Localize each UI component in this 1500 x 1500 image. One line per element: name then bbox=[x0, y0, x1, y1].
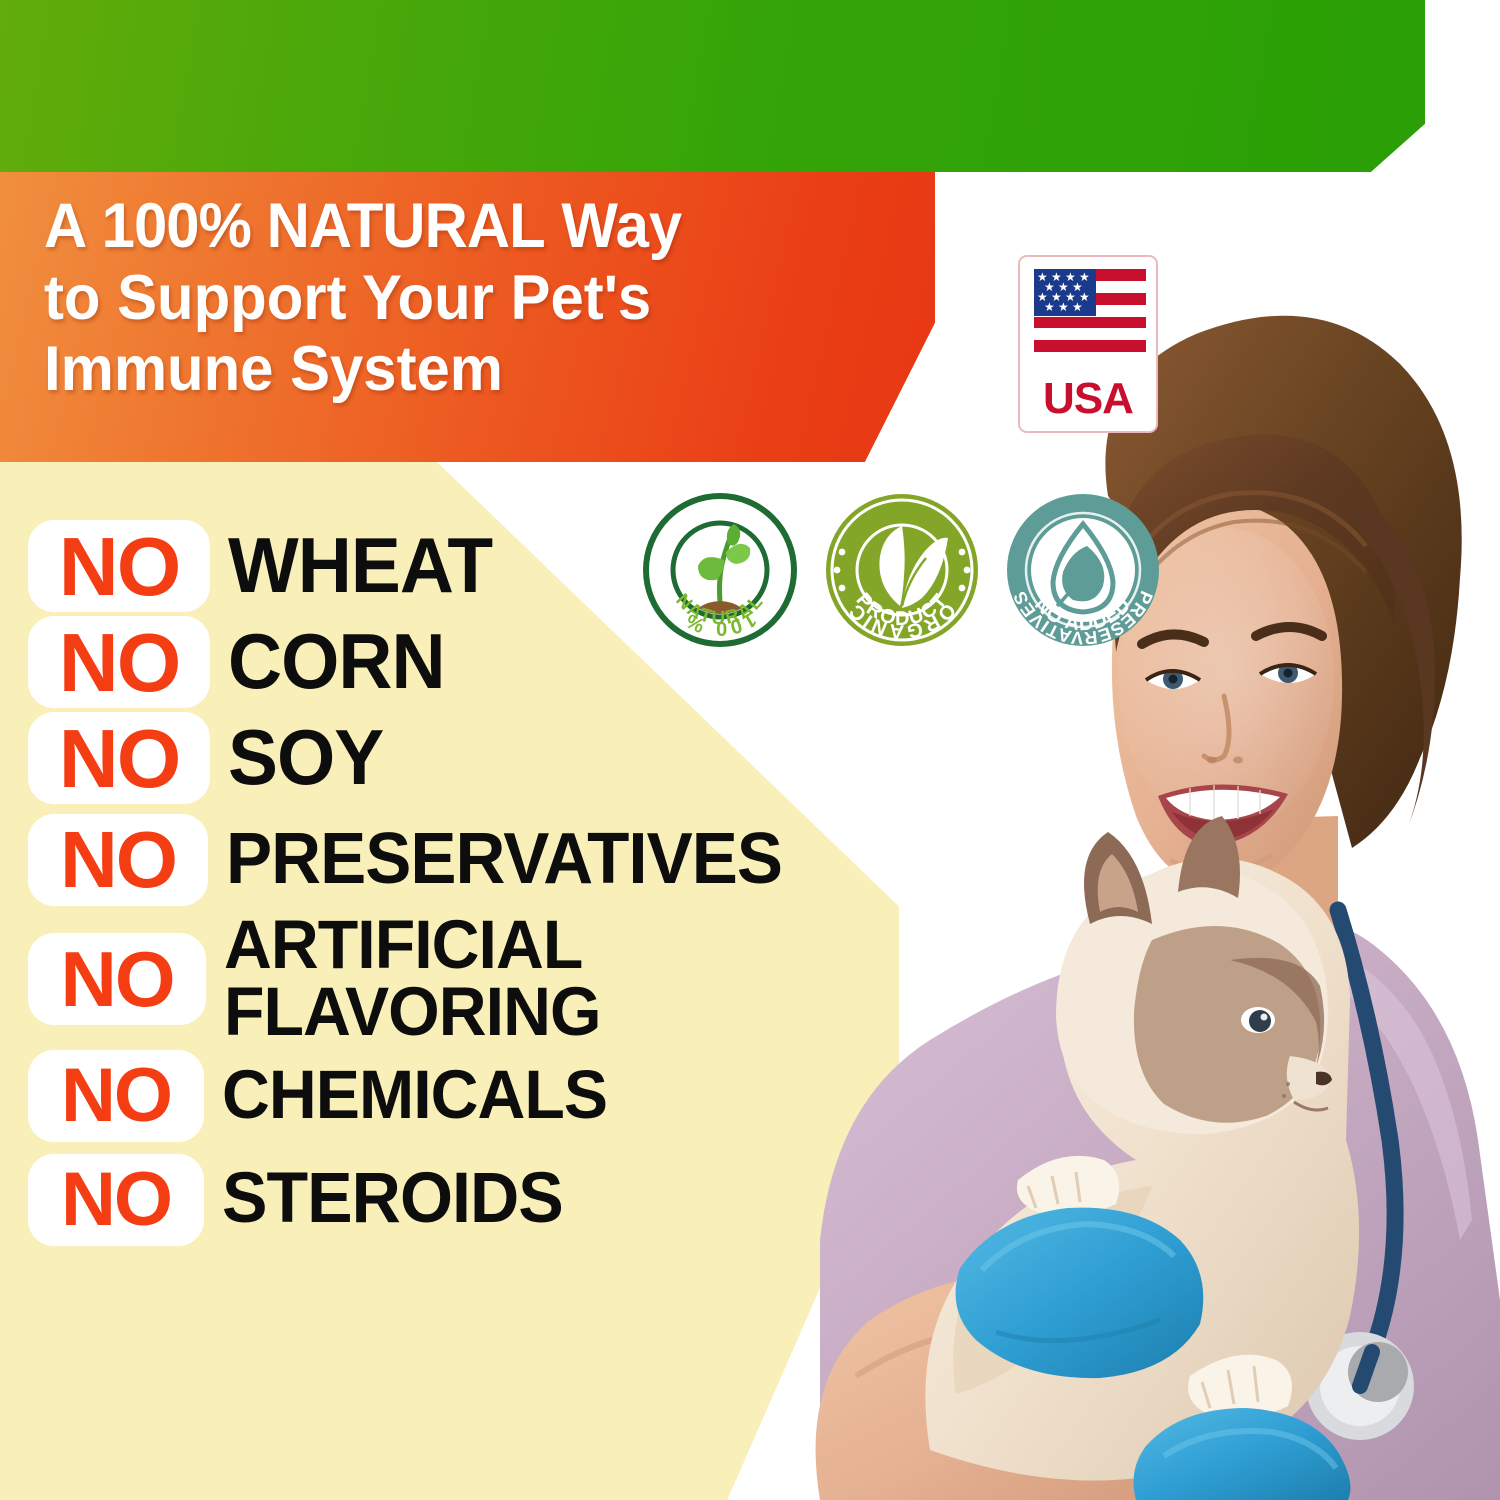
list-item: NO STEROIDS bbox=[28, 1154, 928, 1246]
usa-badge-label: USA bbox=[1020, 374, 1156, 424]
subhead-line-1: A 100% NATURAL Way bbox=[44, 196, 880, 258]
recommended-by-vets-banner bbox=[0, 0, 1425, 172]
no-item-label: ARTIFICIAL FLAVORING bbox=[224, 912, 601, 1046]
subhead-text-block: A 100% NATURAL Way to Support Your Pet's… bbox=[44, 196, 924, 411]
no-chip: NO bbox=[28, 616, 210, 708]
list-item: NO ARTIFICIAL FLAVORING bbox=[28, 912, 928, 1046]
no-item-label: WHEAT bbox=[228, 528, 492, 604]
no-chip: NO bbox=[28, 1154, 204, 1246]
no-chip: NO bbox=[28, 933, 206, 1025]
subhead-line-1-suffix: Way bbox=[545, 191, 682, 261]
list-item: NO CORN bbox=[28, 616, 928, 708]
no-item-label: SOY bbox=[228, 720, 383, 796]
no-item-label: CORN bbox=[228, 624, 445, 700]
subhead-line-1-prefix: A bbox=[44, 191, 102, 261]
subhead-line-2: to Support Your Pet's bbox=[44, 268, 880, 330]
subhead-line-3: Immune System bbox=[44, 339, 880, 401]
list-item: NO CHEMICALS bbox=[28, 1050, 928, 1142]
usa-flag-icon: ★ ★ ★ ★ ★ ★ ★ ★ ★ ★ ★ ★ ★ ★ bbox=[1034, 269, 1146, 354]
list-item: NO WHEAT bbox=[28, 520, 928, 612]
subhead-line-1-emphasis: 100% NATURAL bbox=[102, 191, 545, 261]
list-item: NO SOY bbox=[28, 712, 928, 804]
no-item-label: PRESERVATIVES bbox=[226, 825, 782, 895]
no-ingredients-list: NO WHEAT NO CORN NO SOY NO PRESERVATIVES… bbox=[28, 520, 928, 1250]
no-chip: NO bbox=[28, 1050, 204, 1142]
no-preservatives-seal: PRESERVATIVES NO ADDED bbox=[1003, 490, 1163, 650]
flag-canton: ★ ★ ★ ★ ★ ★ ★ ★ ★ ★ ★ ★ ★ ★ bbox=[1034, 269, 1096, 316]
list-item: NO PRESERVATIVES bbox=[28, 814, 928, 906]
no-item-label: CHEMICALS bbox=[222, 1062, 607, 1129]
made-in-usa-badge: ★ ★ ★ ★ ★ ★ ★ ★ ★ ★ ★ ★ ★ ★ USA bbox=[1018, 255, 1158, 433]
no-chip: NO bbox=[28, 712, 210, 804]
no-chip: NO bbox=[28, 814, 208, 906]
no-chip: NO bbox=[28, 520, 210, 612]
product-infographic-poster: RECOMMENDED BY VETS A 100% NATURAL Way t… bbox=[0, 0, 1500, 1500]
no-item-label: STEROIDS bbox=[222, 1165, 563, 1234]
